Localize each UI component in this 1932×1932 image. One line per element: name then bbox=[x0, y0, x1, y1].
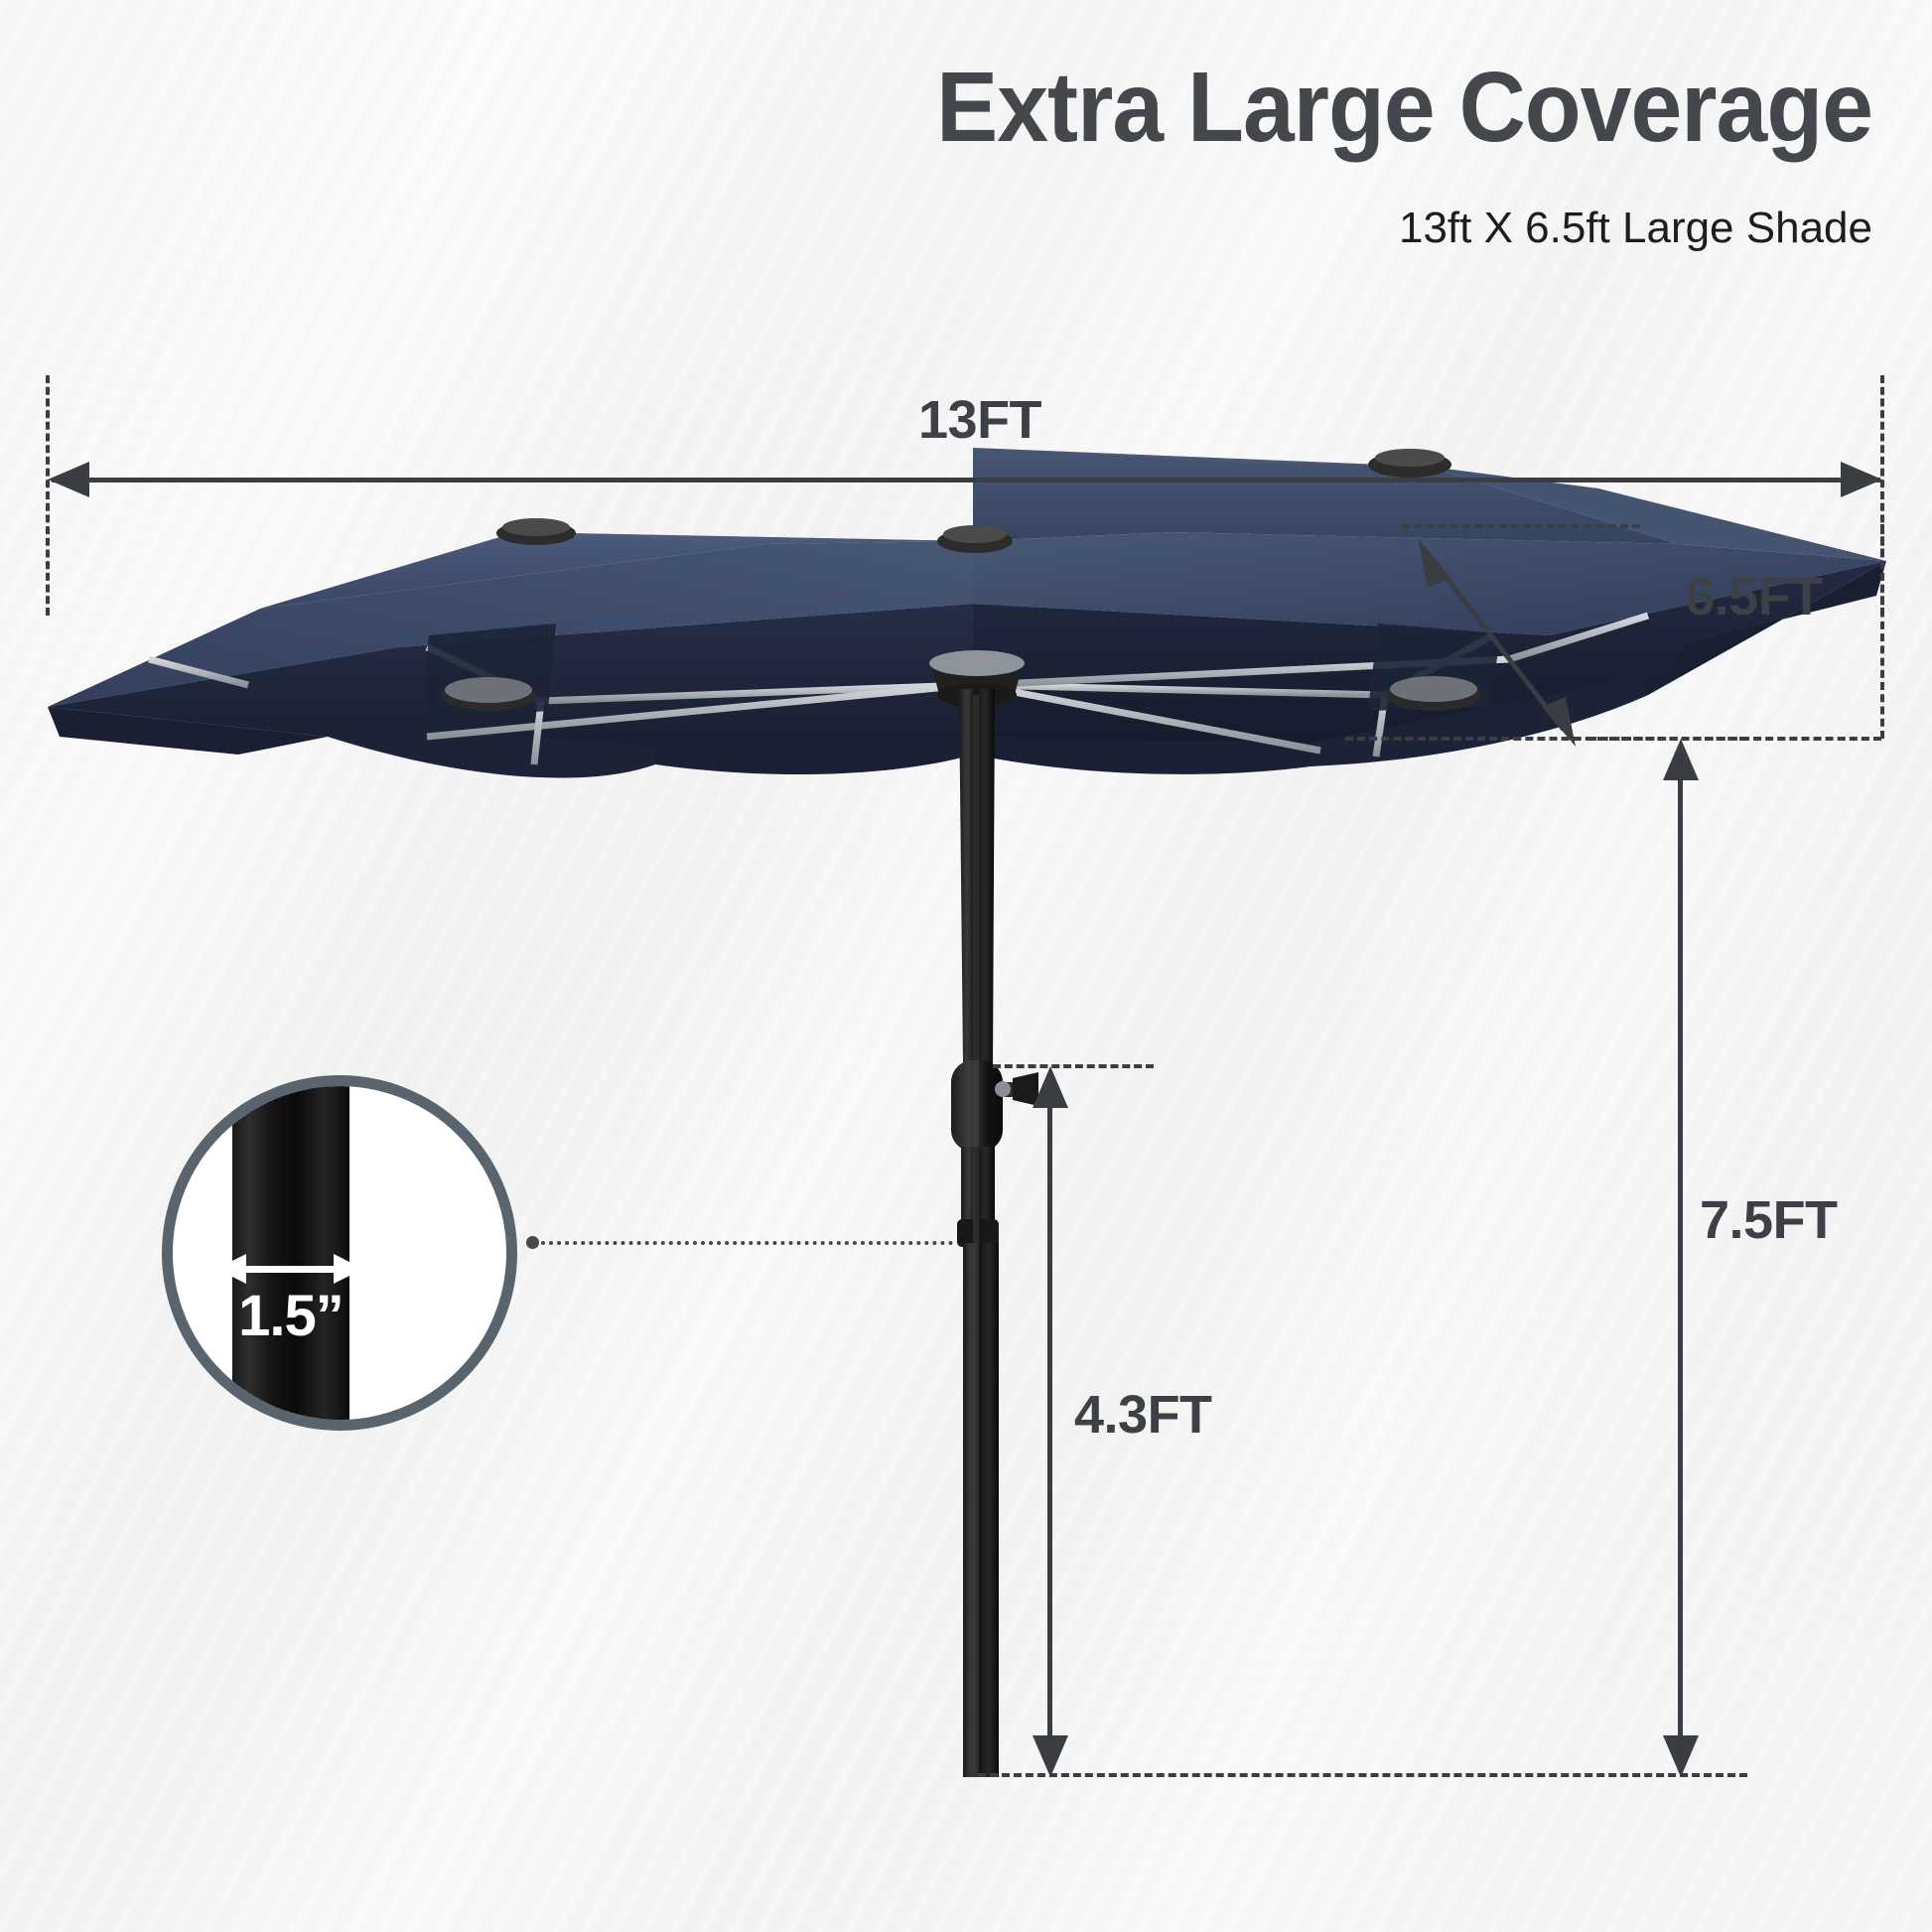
inset-dim-arrow-left bbox=[216, 1254, 246, 1284]
rib-hub-left-cap bbox=[445, 677, 532, 703]
ext-line-4p3ft-top bbox=[993, 1064, 1154, 1068]
infographic-canvas: Extra Large Coverage 13ft X 6.5ft Large … bbox=[0, 0, 1932, 1932]
dim-arrow-7p5ft-bottom bbox=[1663, 1735, 1699, 1777]
dim-arrow-7p5ft-top bbox=[1663, 739, 1699, 780]
leader-line-pole-detail bbox=[541, 1241, 953, 1245]
dim-label-4p3ft: 4.3FT bbox=[1074, 1384, 1212, 1446]
dim-line-7p5ft bbox=[1678, 776, 1683, 1745]
dim-arrow-6p5ft bbox=[1370, 516, 1648, 755]
patio-umbrella-illustration bbox=[0, 0, 1932, 1932]
canopy-finial-right bbox=[1368, 449, 1451, 478]
pole-lower-section bbox=[963, 1243, 999, 1777]
ground-baseline bbox=[978, 1773, 1747, 1777]
dim-label-13ft: 13FT bbox=[918, 389, 1041, 451]
inset-pole-graphic bbox=[232, 1075, 349, 1431]
pole-highlight bbox=[973, 695, 979, 1777]
crank-housing bbox=[951, 1060, 1038, 1152]
dim-label-7p5ft: 7.5FT bbox=[1700, 1189, 1838, 1251]
leader-dot bbox=[526, 1236, 539, 1249]
inset-dim-line bbox=[240, 1266, 344, 1273]
ext-line-6p5ft-right bbox=[1880, 524, 1884, 739]
dim-label-6p5ft: 6.5FT bbox=[1685, 566, 1823, 627]
pole-diameter-inset: 1.5” bbox=[162, 1075, 517, 1431]
dim-arrow-4p3ft-top bbox=[1033, 1066, 1068, 1108]
dim-label-pole-diameter: 1.5” bbox=[173, 1283, 409, 1349]
canopy-finial-center bbox=[937, 525, 1013, 553]
canopy-finial-left bbox=[496, 518, 576, 545]
dim-line-4p3ft bbox=[1047, 1104, 1052, 1745]
dim-arrow-13ft-right bbox=[1841, 462, 1882, 497]
dim-arrow-13ft-left bbox=[48, 462, 89, 497]
inset-dim-arrow-right bbox=[334, 1254, 363, 1284]
dim-arrow-4p3ft-bottom bbox=[1033, 1735, 1068, 1777]
dim-line-13ft bbox=[52, 478, 1880, 483]
